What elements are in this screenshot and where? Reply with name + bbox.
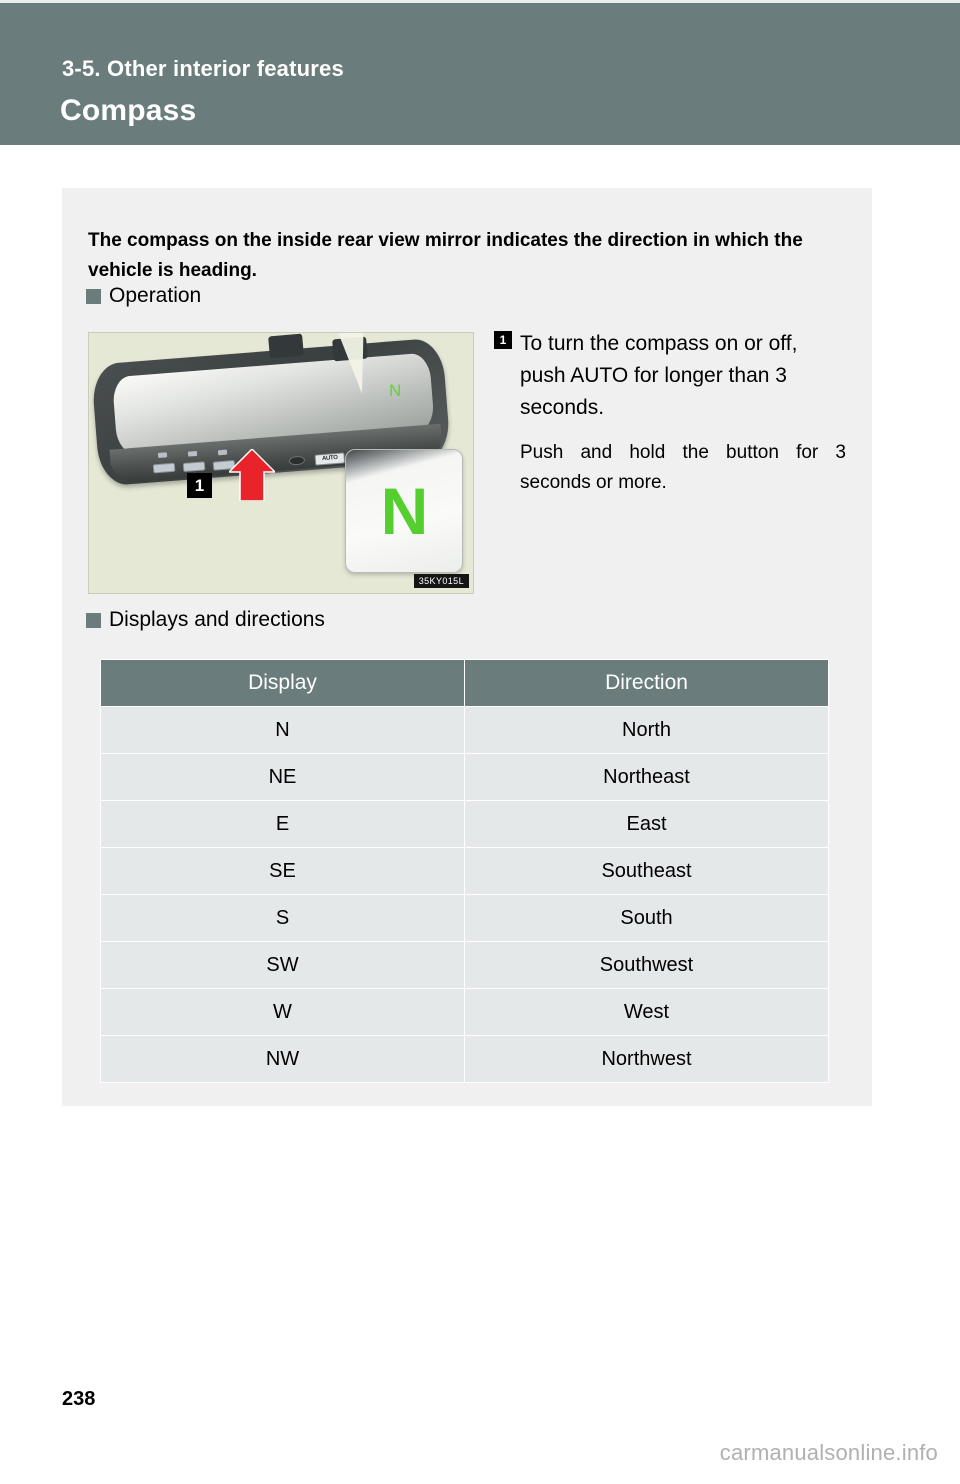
mirror-illustration: AUTO N N 1 35KY015L [88, 332, 474, 594]
square-bullet-icon [86, 289, 101, 304]
red-arrow-icon [229, 449, 275, 501]
mirror-homelink-button [183, 461, 206, 472]
subsection-label: Displays and directions [109, 608, 325, 632]
square-bullet-icon [86, 613, 101, 628]
step-instruction-primary: To turn the compass on or off, push AUTO… [520, 328, 846, 424]
table-row: NNorth [101, 707, 829, 754]
mirror-homelink-button [153, 463, 176, 474]
magnifier-cone [325, 332, 371, 396]
cell-display: NE [101, 754, 465, 801]
cell-display: NW [101, 1036, 465, 1083]
table-row: SESoutheast [101, 848, 829, 895]
subsection-label: Operation [109, 284, 201, 308]
cell-display: E [101, 801, 465, 848]
step-instruction-block: 1 To turn the compass on or off, push AU… [494, 328, 846, 498]
cell-direction: Southwest [465, 942, 829, 989]
page-number: 238 [62, 1388, 95, 1411]
mirror-light-sensor [289, 456, 306, 466]
cell-direction: West [465, 989, 829, 1036]
directions-table: Display Direction NNorthNENortheastEEast… [100, 659, 829, 1083]
subsection-heading-displays: Displays and directions [86, 608, 325, 632]
content-panel: The compass on the inside rear view mirr… [62, 188, 872, 1106]
cell-direction: Northwest [465, 1036, 829, 1083]
cell-display: N [101, 707, 465, 754]
callout-number-1: 1 [187, 473, 212, 498]
cell-direction: North [465, 707, 829, 754]
mirror-indicator-led [188, 451, 197, 457]
cell-direction: East [465, 801, 829, 848]
table-row: SSouth [101, 895, 829, 942]
table-row: EEast [101, 801, 829, 848]
cell-display: W [101, 989, 465, 1036]
table-header-row: Display Direction [101, 660, 829, 707]
table-row: SWSouthwest [101, 942, 829, 989]
table-row: NENortheast [101, 754, 829, 801]
cell-display: SE [101, 848, 465, 895]
site-watermark: carmanualsonline.info [720, 1440, 938, 1466]
mirror-mount-stalk [268, 334, 304, 359]
compass-display-letter: N [389, 381, 401, 401]
cell-direction: Southeast [465, 848, 829, 895]
auto-button: AUTO [314, 452, 345, 465]
cell-display: SW [101, 942, 465, 989]
column-header-direction: Direction [465, 660, 829, 707]
magnified-display-inset: N [345, 449, 463, 573]
cell-direction: South [465, 895, 829, 942]
page-title: Compass [60, 94, 196, 128]
step-instruction-secondary: Push and hold the button for 3 seconds o… [520, 438, 846, 498]
section-label: 3-5. Other interior features [62, 56, 344, 82]
table-row: WWest [101, 989, 829, 1036]
table-row: NWNorthwest [101, 1036, 829, 1083]
column-header-display: Display [101, 660, 465, 707]
subsection-heading-operation: Operation [86, 284, 201, 308]
mirror-indicator-led [218, 450, 227, 456]
mirror-indicator-led [158, 452, 167, 458]
magnified-compass-letter: N [346, 476, 463, 546]
page-header-band: 3-5. Other interior features Compass [0, 3, 960, 145]
step-number-marker: 1 [494, 331, 512, 349]
intro-paragraph: The compass on the inside rear view mirr… [88, 226, 848, 286]
figure-code-label: 35KY015L [414, 574, 469, 588]
cell-direction: Northeast [465, 754, 829, 801]
cell-display: S [101, 895, 465, 942]
